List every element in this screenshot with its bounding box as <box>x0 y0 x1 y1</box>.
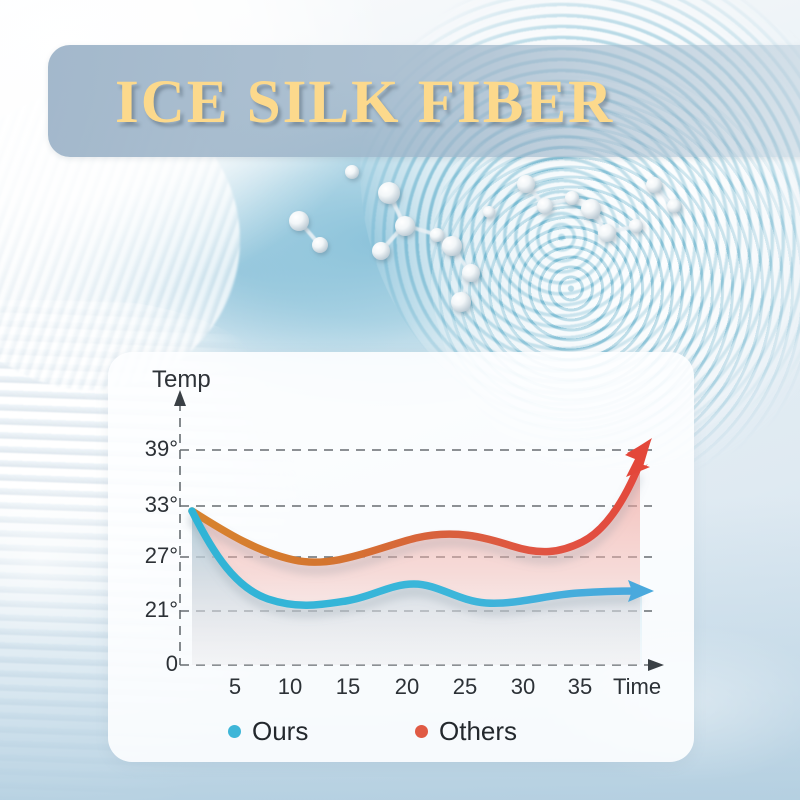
y-axis-ticks: 39° 33° 27° 21° 0 <box>120 352 178 762</box>
legend-item-ours[interactable]: Ours <box>228 716 308 747</box>
legend-dot-others <box>415 725 428 738</box>
x-tick-30: 30 <box>501 674 545 700</box>
y-tick-27: 27° <box>120 543 178 569</box>
temperature-line-chart <box>108 352 694 762</box>
legend-label-others: Others <box>439 716 517 747</box>
x-axis-title: Time <box>613 674 661 700</box>
arrow-right-icon <box>648 659 664 671</box>
x-tick-20: 20 <box>385 674 429 700</box>
legend-label-ours: Ours <box>252 716 308 747</box>
y-tick-39: 39° <box>120 436 178 462</box>
x-tick-5: 5 <box>213 674 257 700</box>
chart-card: Temp <box>108 352 694 762</box>
legend-dot-ours <box>228 725 241 738</box>
y-tick-21: 21° <box>120 597 178 623</box>
poster-root: ICE SILK FIBER Temp <box>0 0 800 800</box>
x-tick-25: 25 <box>443 674 487 700</box>
y-tick-33: 33° <box>120 492 178 518</box>
y-tick-0: 0 <box>120 651 178 677</box>
x-tick-35: 35 <box>558 674 602 700</box>
page-title: ICE SILK FIBER <box>115 60 800 145</box>
x-tick-10: 10 <box>268 674 312 700</box>
chart-legend: Ours Others <box>108 712 694 756</box>
x-tick-15: 15 <box>326 674 370 700</box>
legend-item-others[interactable]: Others <box>415 716 517 747</box>
arrow-up-right-icon <box>625 438 652 477</box>
